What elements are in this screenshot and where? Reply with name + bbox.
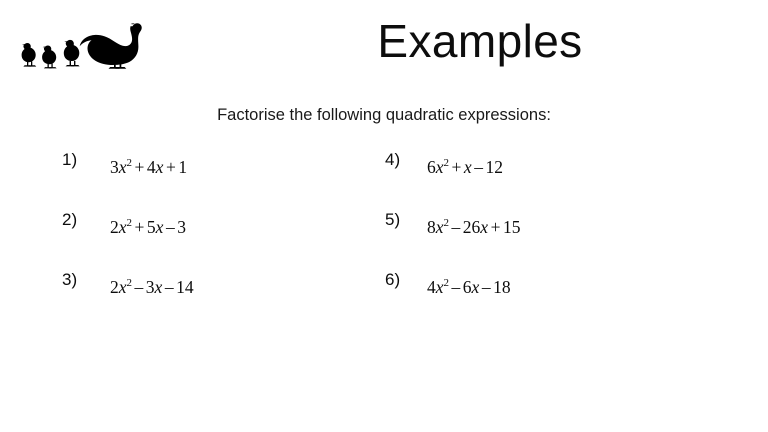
question-expression: 6x2+x–12 xyxy=(427,157,503,178)
question-item: 2) 2x2+5x–3 xyxy=(62,210,392,244)
duckling-icon xyxy=(22,43,37,67)
question-expression: 4x2–6x–18 xyxy=(427,277,511,298)
question-item: 5) 8x2–26x+15 xyxy=(385,210,715,244)
question-item: 1) 3x2+4x+1 xyxy=(62,150,392,184)
question-expression: 2x2–3x–14 xyxy=(110,277,194,298)
question-number: 5) xyxy=(385,210,400,230)
question-expression: 8x2–26x+15 xyxy=(427,217,520,238)
adult-duck-icon xyxy=(80,23,142,68)
instruction-text: Factorise the following quadratic expres… xyxy=(0,106,768,125)
question-number: 6) xyxy=(385,270,400,290)
duckling-icon xyxy=(42,46,57,69)
question-item: 3) 2x2–3x–14 xyxy=(62,270,392,304)
question-number: 1) xyxy=(62,150,77,170)
page-title: Examples xyxy=(200,16,760,68)
question-number: 2) xyxy=(62,210,77,230)
question-number: 3) xyxy=(62,270,77,290)
question-number: 4) xyxy=(385,150,400,170)
question-expression: 2x2+5x–3 xyxy=(110,217,186,238)
question-item: 4) 6x2+x–12 xyxy=(385,150,715,184)
question-column-right: 4) 6x2+x–12 5) 8x2–26x+15 6) 4x2–6x–18 xyxy=(385,150,715,325)
question-grid: 1) 3x2+4x+1 2) 2x2+5x–3 3) 2x2–3x–14 4) xyxy=(0,150,768,325)
question-expression: 3x2+4x+1 xyxy=(110,157,187,178)
duckling-icon xyxy=(64,40,80,67)
question-item: 6) 4x2–6x–18 xyxy=(385,270,715,304)
slide-canvas: Examples Factorise the following quadrat… xyxy=(0,0,768,432)
question-column-left: 1) 3x2+4x+1 2) 2x2+5x–3 3) 2x2–3x–14 xyxy=(62,150,392,325)
duck-family-clipart xyxy=(8,14,180,82)
